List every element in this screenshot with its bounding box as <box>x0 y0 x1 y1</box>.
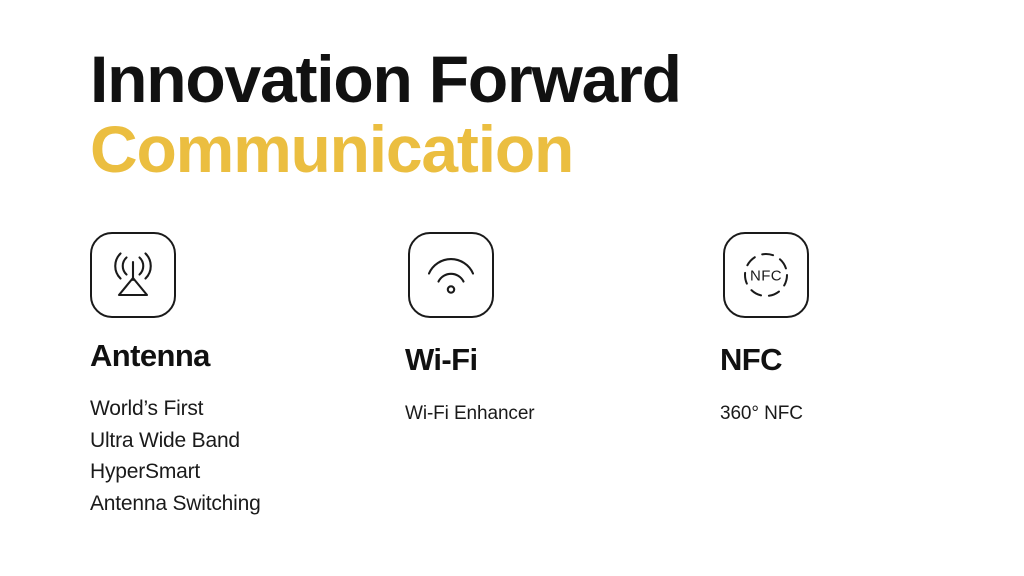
feature-nfc: NFC NFC 360° NFC <box>720 232 1010 428</box>
wifi-signal-icon <box>425 254 477 296</box>
feature-wifi: Wi-Fi Wi-Fi Enhancer <box>405 232 705 428</box>
page-title: Innovation Forward Communication <box>90 44 950 184</box>
slide-canvas: Innovation Forward Communication <box>0 0 1024 576</box>
antenna-tower-icon <box>106 249 160 301</box>
feature-antenna: Antenna World’s First Ultra Wide Band Hy… <box>90 232 390 519</box>
headline-line-accent: Communication <box>90 114 950 184</box>
nfc-icon: NFC <box>738 247 794 303</box>
feature-wifi-title: Wi-Fi <box>405 342 705 378</box>
nfc-icon-tile: NFC <box>723 232 809 318</box>
feature-nfc-description: 360° NFC <box>720 400 1010 428</box>
feature-antenna-title: Antenna <box>90 338 390 374</box>
nfc-icon-label: NFC <box>750 268 782 285</box>
feature-antenna-description: World’s First Ultra Wide Band HyperSmart… <box>90 393 390 519</box>
wifi-icon-tile <box>408 232 494 318</box>
headline-line-primary: Innovation Forward <box>90 44 950 114</box>
feature-nfc-title: NFC <box>720 342 1010 378</box>
antenna-icon-tile <box>90 232 176 318</box>
feature-wifi-description: Wi-Fi Enhancer <box>405 400 705 428</box>
feature-columns: Antenna World’s First Ultra Wide Band Hy… <box>0 232 1024 562</box>
